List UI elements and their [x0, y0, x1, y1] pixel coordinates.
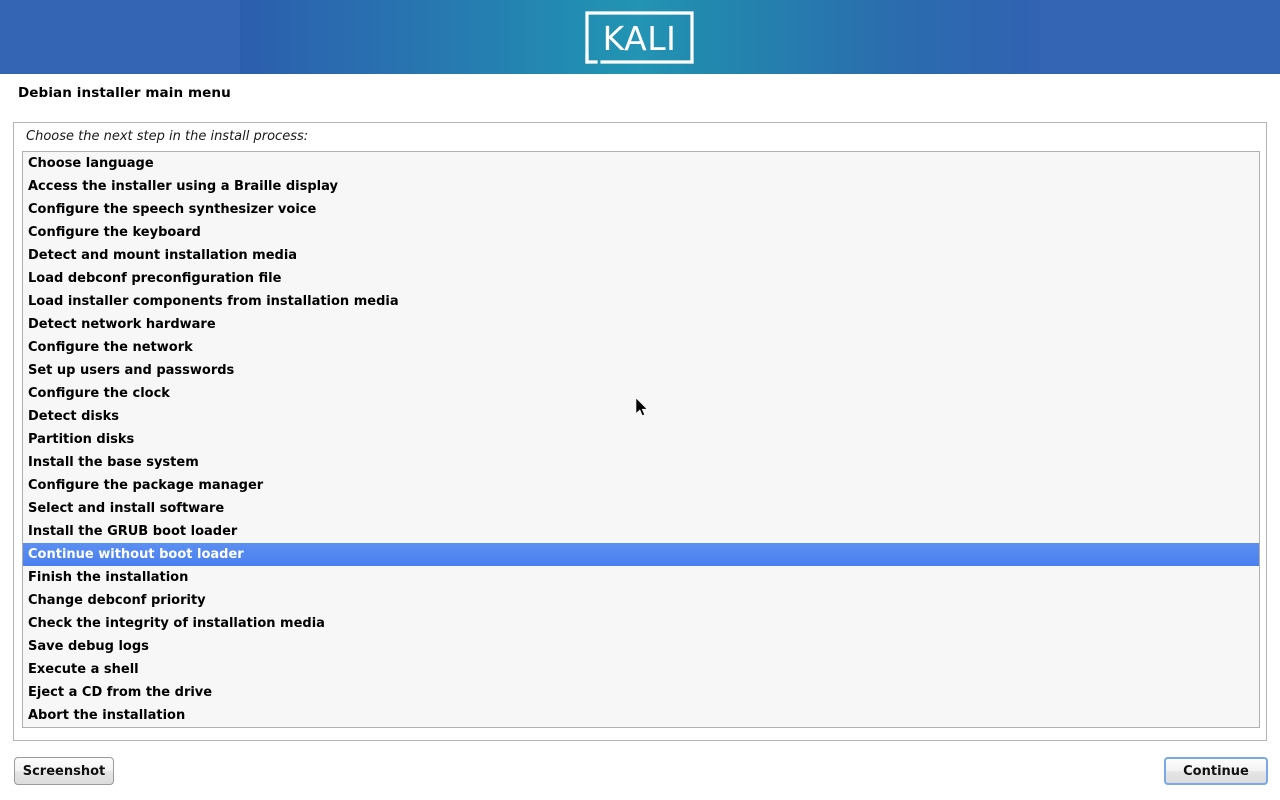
list-item[interactable]: Abort the installation: [23, 704, 1259, 727]
list-item[interactable]: Finish the installation: [23, 566, 1259, 589]
continue-button[interactable]: Continue: [1164, 757, 1268, 785]
list-item[interactable]: Save debug logs: [23, 635, 1259, 658]
list-item[interactable]: Continue without boot loader: [23, 543, 1259, 566]
list-item[interactable]: Check the integrity of installation medi…: [23, 612, 1259, 635]
list-item[interactable]: Access the installer using a Braille dis…: [23, 175, 1259, 198]
list-item[interactable]: Detect network hardware: [23, 313, 1259, 336]
list-item[interactable]: Eject a CD from the drive: [23, 681, 1259, 704]
list-item[interactable]: Execute a shell: [23, 658, 1259, 681]
list-item[interactable]: Load installer components from installat…: [23, 290, 1259, 313]
list-item[interactable]: Load debconf preconfiguration file: [23, 267, 1259, 290]
install-step-list[interactable]: Choose languageAccess the installer usin…: [22, 151, 1260, 728]
main-menu-panel: Choose the next step in the install proc…: [13, 122, 1267, 741]
list-item[interactable]: Detect and mount installation media: [23, 244, 1259, 267]
list-item[interactable]: Choose language: [23, 152, 1259, 175]
list-item[interactable]: Install the GRUB boot loader: [23, 520, 1259, 543]
list-item[interactable]: Configure the keyboard: [23, 221, 1259, 244]
prompt-label: Choose the next step in the install proc…: [26, 129, 308, 144]
list-item[interactable]: Configure the package manager: [23, 474, 1259, 497]
list-item[interactable]: Install the base system: [23, 451, 1259, 474]
page-title: Debian installer main menu: [18, 85, 231, 101]
installer-banner: KALI: [0, 0, 1280, 74]
list-item[interactable]: Partition disks: [23, 428, 1259, 451]
screenshot-button[interactable]: Screenshot: [14, 757, 114, 785]
list-item[interactable]: Change debconf priority: [23, 589, 1259, 612]
list-item[interactable]: Configure the clock: [23, 382, 1259, 405]
kali-logo: KALI: [583, 9, 696, 66]
list-item[interactable]: Detect disks: [23, 405, 1259, 428]
list-item[interactable]: Select and install software: [23, 497, 1259, 520]
list-item[interactable]: Configure the speech synthesizer voice: [23, 198, 1259, 221]
list-item[interactable]: Set up users and passwords: [23, 359, 1259, 382]
list-item[interactable]: Configure the network: [23, 336, 1259, 359]
kali-logo-text: KALI: [603, 19, 677, 58]
